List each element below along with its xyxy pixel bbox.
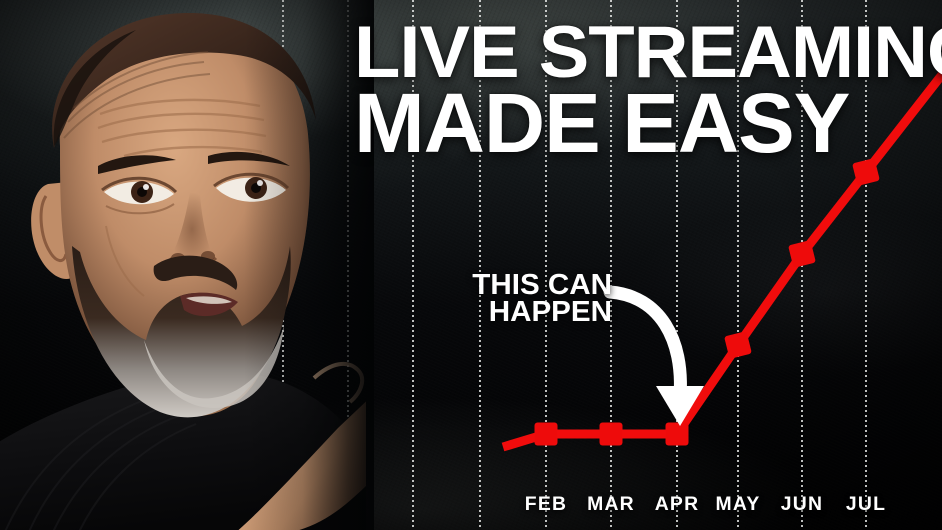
annotation-text: THIS CAN HAPPEN [452,272,612,327]
x-tick-jun: JUN [781,494,823,516]
thumbnail-canvas: LIVE STREAMING MADE EASY THIS CAN HAPPEN… [0,0,942,530]
arrow-head [656,386,704,426]
title-block: LIVE STREAMING MADE EASY [354,22,940,158]
annotation-line-1: THIS CAN [449,272,612,299]
x-tick-apr: APR [655,494,700,516]
x-tick-mar: MAR [587,494,635,516]
title-line-2: MADE EASY [354,89,942,160]
x-tick-jul: JUL [846,494,886,516]
title-line-1: LIVE STREAMING [354,22,942,84]
annotation-line-2: HAPPEN [449,299,612,326]
x-tick-feb: FEB [525,494,567,516]
x-tick-may: MAY [716,494,761,516]
curved-arrow-down-icon [610,292,680,396]
